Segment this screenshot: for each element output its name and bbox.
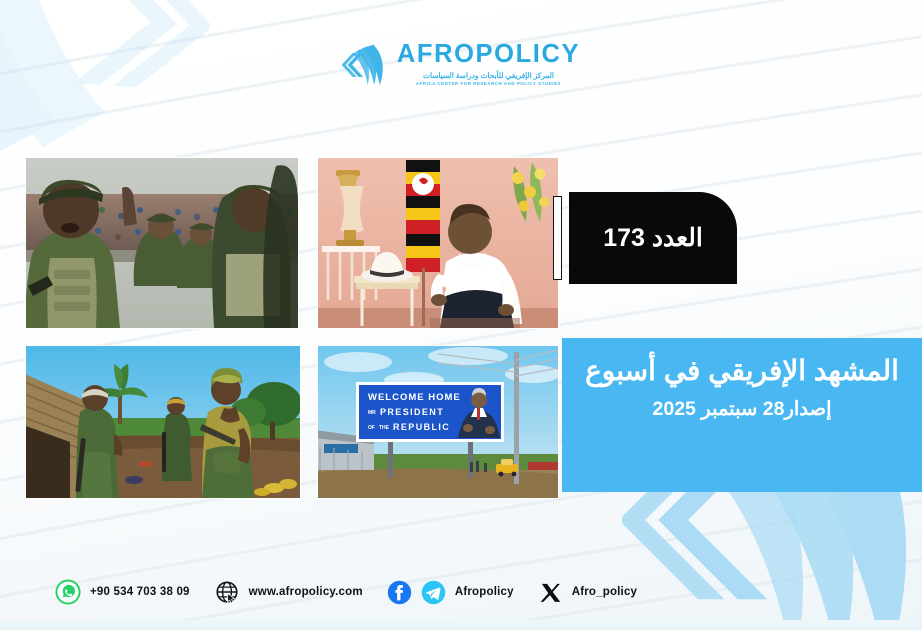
- brand-subtitle-arabic: المركز الإفريقي للأبحاث ودراسة السياسات: [397, 71, 580, 80]
- issue-badge-tick-marker: [553, 196, 562, 280]
- footer-contact-bar: +90 534 703 38 09 www.afropolicy.com Afr…: [0, 554, 922, 630]
- issue-badge: العدد 173: [569, 192, 737, 284]
- title-panel: المشهد الإفريقي في أسبوع إصدار28 سبتمبر …: [562, 338, 922, 492]
- social-handle-afro-policy: Afro_policy: [572, 586, 637, 598]
- billboard-line-3: REPUBLIC: [393, 422, 450, 432]
- contact-website[interactable]: www.afropolicy.com: [214, 579, 363, 605]
- photo-soldiers-parade-image: [26, 158, 298, 328]
- globe-icon[interactable]: [214, 579, 240, 605]
- brand-text-block: AFROPOLICY المركز الإفريقي للأبحاث ودراس…: [397, 42, 580, 86]
- photo-soldiers-parade: [26, 158, 298, 328]
- facebook-icon[interactable]: [387, 580, 412, 605]
- social-afro-policy[interactable]: Afro_policy: [538, 580, 637, 605]
- photo-welcome-billboard: WELCOME HOME MR PRESIDENT OF THE REPUBLI…: [318, 346, 558, 498]
- brand-logo: AFROPOLICY المركز الإفريقي للأبحاث ودراس…: [0, 34, 922, 94]
- contact-phone[interactable]: +90 534 703 38 09: [55, 579, 190, 605]
- photo-welcome-billboard-image: WELCOME HOME MR PRESIDENT OF THE REPUBLI…: [318, 346, 558, 498]
- subheadline: إصدار28 سبتمبر 2025: [653, 397, 832, 421]
- photo-militia-village: [26, 346, 300, 498]
- x-twitter-icon[interactable]: [538, 580, 563, 605]
- billboard-line-1: WELCOME HOME: [368, 392, 461, 403]
- headline: المشهد الإفريقي في أسبوع: [585, 356, 899, 387]
- website-url: www.afropolicy.com: [249, 586, 363, 598]
- brand-subtitle-english: AFRICA CENTER FOR RESEARCH AND POLICY ST…: [397, 81, 580, 86]
- photo-president-seated-image: [318, 158, 558, 328]
- social-handle-afropolicy: Afropolicy: [455, 586, 514, 598]
- photo-militia-village-image: [26, 346, 300, 498]
- telegram-icon[interactable]: [421, 580, 446, 605]
- billboard-line-2: PRESIDENT: [380, 407, 444, 417]
- billboard-line-3-small-a: OF: [368, 425, 375, 431]
- afropolicy-leaf-icon: [342, 40, 388, 88]
- whatsapp-icon[interactable]: [55, 579, 81, 605]
- social-afropolicy[interactable]: Afropolicy: [387, 580, 514, 605]
- photo-president-seated: [318, 158, 558, 328]
- billboard-line-2-small: MR: [368, 410, 376, 416]
- phone-number: +90 534 703 38 09: [90, 586, 190, 598]
- issue-badge-label: العدد 173: [603, 223, 703, 253]
- brand-wordmark: AFROPOLICY: [397, 42, 580, 68]
- billboard-line-3-small-b: THE: [379, 425, 390, 431]
